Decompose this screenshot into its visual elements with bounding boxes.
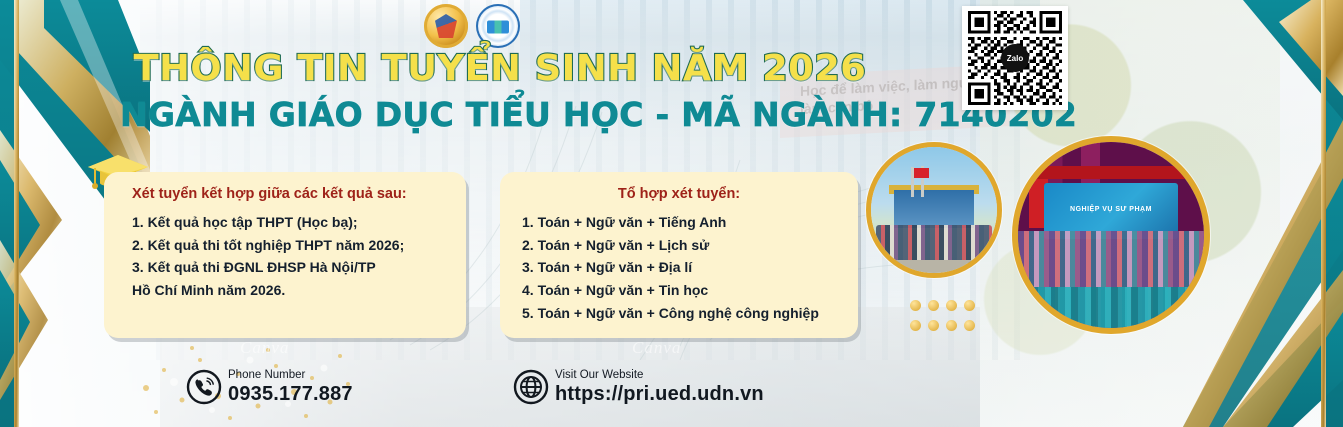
subject-combination-item: 3. Toán + Ngữ văn + Địa lí xyxy=(516,256,842,279)
contact-website[interactable]: Visit Our Website https://pri.ued.udn.vn xyxy=(513,369,764,405)
contact-bar: Phone Number 0935.177.887 Visit Our Webs… xyxy=(0,363,1343,421)
photo-group-building xyxy=(866,142,1002,278)
admission-methods-card: Xét tuyển kết hợp giữa các kết quả sau: … xyxy=(104,172,466,338)
globe-icon xyxy=(513,369,549,405)
university-emblem-gold-icon xyxy=(424,4,468,48)
logo-group xyxy=(424,4,520,48)
subject-combination-item: 5. Toán + Ngữ văn + Công nghệ công nghiệ… xyxy=(516,302,842,325)
phone-value: 0935.177.887 xyxy=(228,384,353,404)
subject-combination-item: 2. Toán + Ngữ văn + Lịch sử xyxy=(516,234,842,257)
admission-method-item: Hồ Chí Minh năm 2026. xyxy=(120,279,450,302)
banner-title-secondary: NGÀNH GIÁO DỤC TIỂU HỌC - MÃ NGÀNH: 7140… xyxy=(120,98,880,133)
photo-stage-text: NGHIỆP VỤ SƯ PHẠM xyxy=(1044,206,1178,213)
zalo-qr-code[interactable]: Zalo xyxy=(962,6,1068,110)
phone-icon xyxy=(186,369,222,405)
photo-crowd-front-row xyxy=(1018,287,1204,328)
admission-method-item: 1. Kết quả học tập THPT (Học bạ); xyxy=(120,211,450,234)
website-label: Visit Our Website xyxy=(555,370,764,382)
photo-flag xyxy=(914,168,929,178)
photo-crowd xyxy=(876,225,992,263)
admission-method-item: 2. Kết quả thi tốt nghiệp THPT năm 2026; xyxy=(120,234,450,257)
faculty-emblem-blue-icon xyxy=(476,4,520,48)
subject-combinations-heading: Tổ hợp xét tuyển: xyxy=(516,186,842,202)
zalo-logo: Zalo xyxy=(1001,44,1029,72)
subject-combinations-card: Tổ hợp xét tuyển: 1. Toán + Ngữ văn + Ti… xyxy=(500,172,858,338)
gold-dot-decoration xyxy=(910,300,974,336)
admission-method-item: 3. Kết quả thi ĐGNL ĐHSP Hà Nội/TP xyxy=(120,256,450,279)
phone-label: Phone Number xyxy=(228,370,353,382)
website-value: https://pri.ued.udn.vn xyxy=(555,384,764,404)
contact-phone[interactable]: Phone Number 0935.177.887 xyxy=(186,369,353,405)
photo-red-banner xyxy=(1029,166,1193,179)
admissions-banner: Học để làm việc, làm người, làm cán bộ xyxy=(0,0,1343,427)
photo-building xyxy=(894,190,975,228)
subject-combination-item: 1. Toán + Ngữ văn + Tiếng Anh xyxy=(516,211,842,234)
title-block: THÔNG TIN TUYỂN SINH NĂM 2026 NGÀNH GIÁO… xyxy=(120,50,880,132)
photo-ground xyxy=(871,260,997,273)
banner-title-primary: THÔNG TIN TUYỂN SINH NĂM 2026 xyxy=(112,50,887,88)
subject-combination-item: 4. Toán + Ngữ văn + Tin học xyxy=(516,279,842,302)
photo-event-hall: NGHIỆP VỤ SƯ PHẠM xyxy=(1012,136,1210,334)
admission-methods-heading: Xét tuyển kết hợp giữa các kết quả sau: xyxy=(120,186,450,202)
